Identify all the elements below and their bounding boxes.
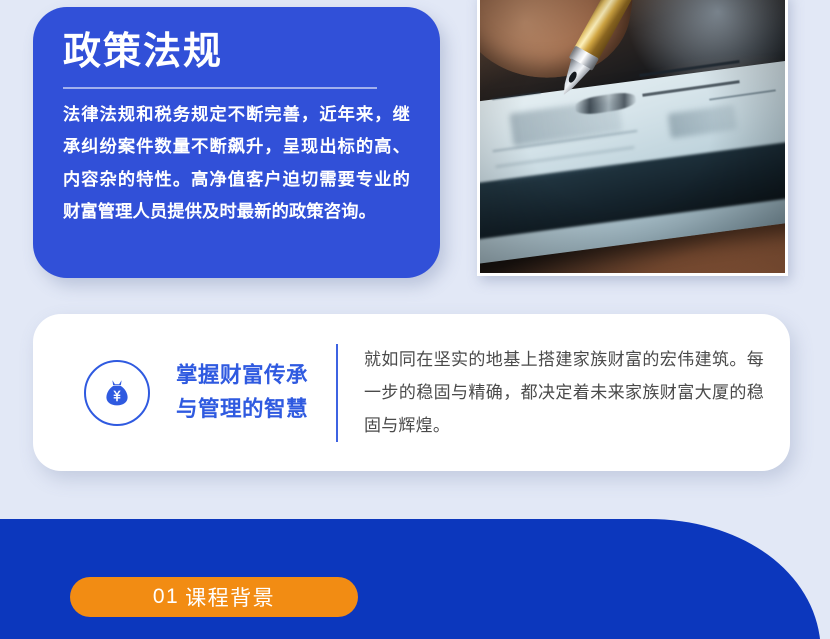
wisdom-heading: 掌握财富传承 与管理的智慧 bbox=[176, 359, 308, 426]
wisdom-card: 掌握财富传承 与管理的智慧 就如同在坚实的地基上搭建家族财富的宏伟建筑。每一步的… bbox=[33, 314, 790, 471]
policy-card: 政策法规 法律法规和税务规定不断完善，近年来，继承纠纷案件数量不断飙升，呈现出标… bbox=[33, 7, 440, 278]
wisdom-heading-line-2: 与管理的智慧 bbox=[176, 393, 308, 426]
policy-card-body: 法律法规和税务规定不断完善，近年来，继承纠纷案件数量不断飙升，呈现出标的高、内容… bbox=[63, 98, 410, 227]
section-chip-label: 课程背景 bbox=[185, 582, 275, 612]
policy-card-title: 政策法规 bbox=[63, 33, 410, 73]
signing-photo bbox=[480, 0, 785, 273]
section-chip-number: 01 bbox=[153, 585, 179, 609]
wisdom-heading-line-1: 掌握财富传承 bbox=[176, 359, 308, 392]
section-chip-course-background[interactable]: 01 课程背景 bbox=[70, 577, 358, 617]
policy-card-divider bbox=[63, 87, 377, 89]
poster-page: 政策法规 法律法规和税务规定不断完善，近年来，继承纠纷案件数量不断飙升，呈现出标… bbox=[0, 0, 830, 639]
wisdom-card-vertical-divider bbox=[336, 344, 338, 442]
money-bag-icon bbox=[84, 360, 150, 426]
wisdom-body-text: 就如同在坚实的地基上搭建家族财富的宏伟建筑。每一步的稳固与精确，都决定着未来家族… bbox=[364, 343, 764, 442]
photo-vignette bbox=[480, 0, 785, 273]
signing-photo-frame bbox=[477, 0, 788, 276]
